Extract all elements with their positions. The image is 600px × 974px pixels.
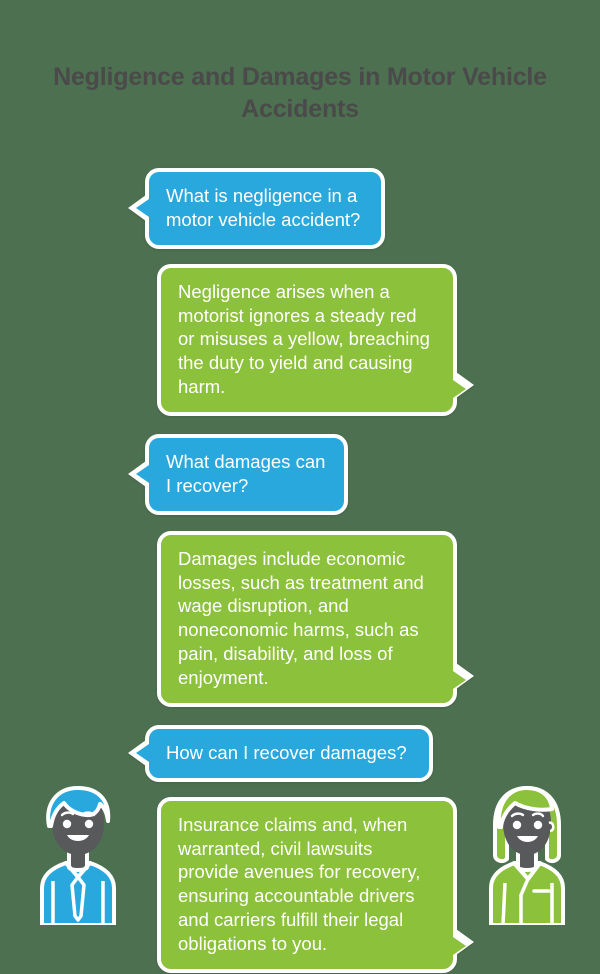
infographic-canvas: Negligence and Damages in Motor Vehicle … <box>0 0 600 974</box>
chat-row-question-3: How can I recover damages? <box>0 725 600 782</box>
question-bubble-1-text: What is negligence in a motor vehicle ac… <box>166 184 365 232</box>
chat-row-answer-1: Negligence arises when a motorist ignore… <box>0 264 600 416</box>
female-avatar-illustration <box>481 785 573 925</box>
male-right-eye <box>85 820 93 828</box>
answer-bubble-1-text: Negligence arises when a motorist ignore… <box>178 280 437 399</box>
question-bubble-1[interactable]: What is negligence in a motor vehicle ac… <box>145 168 385 249</box>
chat-row-question-2: What damages can I recover? <box>0 434 600 515</box>
female-left-eye <box>513 821 521 829</box>
chat-row-answer-2: Damages include economic losses, such as… <box>0 531 600 707</box>
male-avatar-illustration <box>32 785 124 925</box>
answer-bubble-3[interactable]: Insurance claims and, when warranted, ci… <box>157 797 457 973</box>
question-bubble-2-text: What damages can I recover? <box>166 450 328 498</box>
male-tie <box>72 877 84 920</box>
male-left-eye <box>63 820 71 828</box>
female-left-sleeve-seam <box>503 883 505 925</box>
question-bubble-3-text: How can I recover damages? <box>166 741 413 765</box>
question-bubble-3[interactable]: How can I recover damages? <box>145 725 433 782</box>
answer-bubble-3-text: Insurance claims and, when warranted, ci… <box>178 813 437 956</box>
question-bubble-2[interactable]: What damages can I recover? <box>145 434 348 515</box>
page-title: Negligence and Damages in Motor Vehicle … <box>48 61 552 125</box>
female-avatar <box>481 785 573 930</box>
female-right-eye <box>534 821 542 829</box>
answer-bubble-2[interactable]: Damages include economic losses, such as… <box>157 531 457 707</box>
answer-bubble-2-text: Damages include economic losses, such as… <box>178 547 437 690</box>
answer-bubble-1[interactable]: Negligence arises when a motorist ignore… <box>157 264 457 416</box>
chat-row-question-1: What is negligence in a motor vehicle ac… <box>0 168 600 249</box>
male-avatar <box>32 785 124 930</box>
